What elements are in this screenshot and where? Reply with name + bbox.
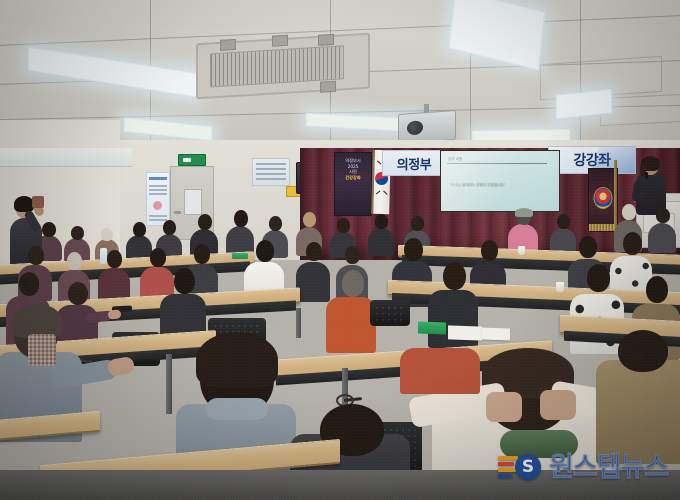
watermark-brand-text: 원스텝뉴스 — [549, 454, 668, 481]
door-window — [184, 189, 202, 215]
audience-member — [98, 250, 130, 300]
wall-notice-board — [252, 158, 290, 186]
stage-banner-right-text: 강강좌 — [573, 150, 610, 170]
paper-cup[interactable] — [518, 246, 525, 255]
event-vertical-banner: 의정부시 2025 시민 건강강좌 — [334, 152, 372, 216]
logo-letter: S — [522, 459, 534, 476]
foreground-audience-right — [596, 330, 680, 460]
ceiling-light-panel — [449, 0, 545, 70]
vbanner-line-4: 건강강좌 — [345, 175, 360, 180]
audience-member — [368, 214, 394, 252]
microphone-icon — [645, 172, 648, 179]
screen-glare — [441, 151, 559, 211]
door-handle-icon[interactable] — [174, 211, 181, 214]
privacy-mosaic — [28, 334, 56, 366]
stage-banner-left: 의정부 — [382, 150, 446, 176]
handout-paper[interactable] — [482, 328, 510, 341]
upper-window-strip — [0, 148, 132, 167]
hand-right — [540, 390, 576, 420]
exit-sign — [178, 154, 206, 166]
flag-fringe — [589, 224, 617, 231]
ceiling-light-panel — [124, 117, 212, 140]
ceiling-air-conditioner — [196, 33, 370, 100]
city-emblem-icon — [594, 187, 613, 209]
audience-member — [296, 242, 330, 298]
photo-scene: 의정부시 2025 시민 건강강좌 의정부 강강좌 강의 내용 — [0, 0, 680, 500]
foreground-audience-red — [400, 330, 480, 390]
stage-banner-left-text: 의정부 — [397, 154, 431, 173]
projection-screen: 강의 내용 "누구나 쉽게하는 운동이 건강입니다" — [441, 151, 559, 211]
audience-member — [326, 270, 376, 348]
hand-left — [486, 392, 522, 422]
paper-cup[interactable] — [556, 282, 564, 292]
projector-lens-icon — [407, 120, 423, 135]
wall-poster — [146, 172, 170, 226]
ceiling-light-panel — [28, 47, 198, 98]
ceiling-projector — [398, 110, 456, 144]
chair[interactable] — [370, 300, 410, 326]
news-watermark: S 원스텝뉴스 — [498, 452, 668, 482]
projection-screen-frame: 강의 내용 "누구나 쉽게하는 운동이 건강입니다" — [440, 150, 560, 212]
onestep-news-logo-icon: S — [498, 452, 544, 482]
classroom-interior: 의정부시 2025 시민 건강강좌 의정부 강강좌 강의 내용 — [0, 0, 680, 500]
audience-member — [648, 208, 676, 250]
logo-circle-icon: S — [515, 454, 541, 480]
